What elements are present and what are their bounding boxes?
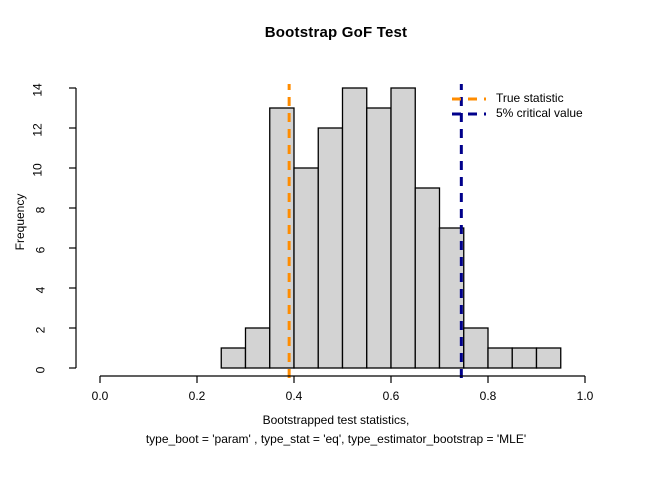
histogram-bar [464, 328, 488, 368]
x-tick-label: 0.2 [189, 389, 206, 403]
y-tick-label: 0 [34, 367, 48, 374]
histogram-bar [537, 348, 561, 368]
histogram-bar [343, 88, 367, 368]
histogram-bar [488, 348, 512, 368]
y-tick-label: 2 [34, 327, 48, 334]
y-tick-marks [69, 88, 76, 368]
histogram-bar [318, 128, 342, 368]
plot-canvas [0, 0, 672, 480]
y-tick-label: 10 [30, 163, 44, 176]
x-tick-label: 0.6 [383, 389, 400, 403]
histogram-plot: Bootstrap GoF Test Frequency Bootstrappe… [0, 0, 672, 480]
histogram-bar [367, 108, 391, 368]
legend-label: 5% critical value [496, 106, 583, 121]
histogram-bar [391, 88, 415, 368]
histogram-bar [221, 348, 245, 368]
x-tick-label: 1.0 [577, 389, 594, 403]
legend-label: True statistic [496, 91, 564, 106]
x-tick-marks [100, 376, 585, 383]
histogram-bar [294, 168, 318, 368]
y-tick-label: 14 [30, 83, 44, 96]
x-tick-label: 0.4 [286, 389, 303, 403]
y-tick-label: 4 [34, 287, 48, 294]
y-tick-label: 12 [30, 123, 44, 136]
histogram-bar [246, 328, 270, 368]
histogram-bar [512, 348, 536, 368]
legend-line-samples [452, 99, 486, 114]
x-tick-label: 0.0 [92, 389, 109, 403]
histogram-bar [415, 188, 439, 368]
y-tick-label: 6 [34, 247, 48, 254]
y-tick-label: 8 [34, 207, 48, 214]
x-tick-label: 0.8 [480, 389, 497, 403]
histogram-bars [221, 88, 561, 368]
